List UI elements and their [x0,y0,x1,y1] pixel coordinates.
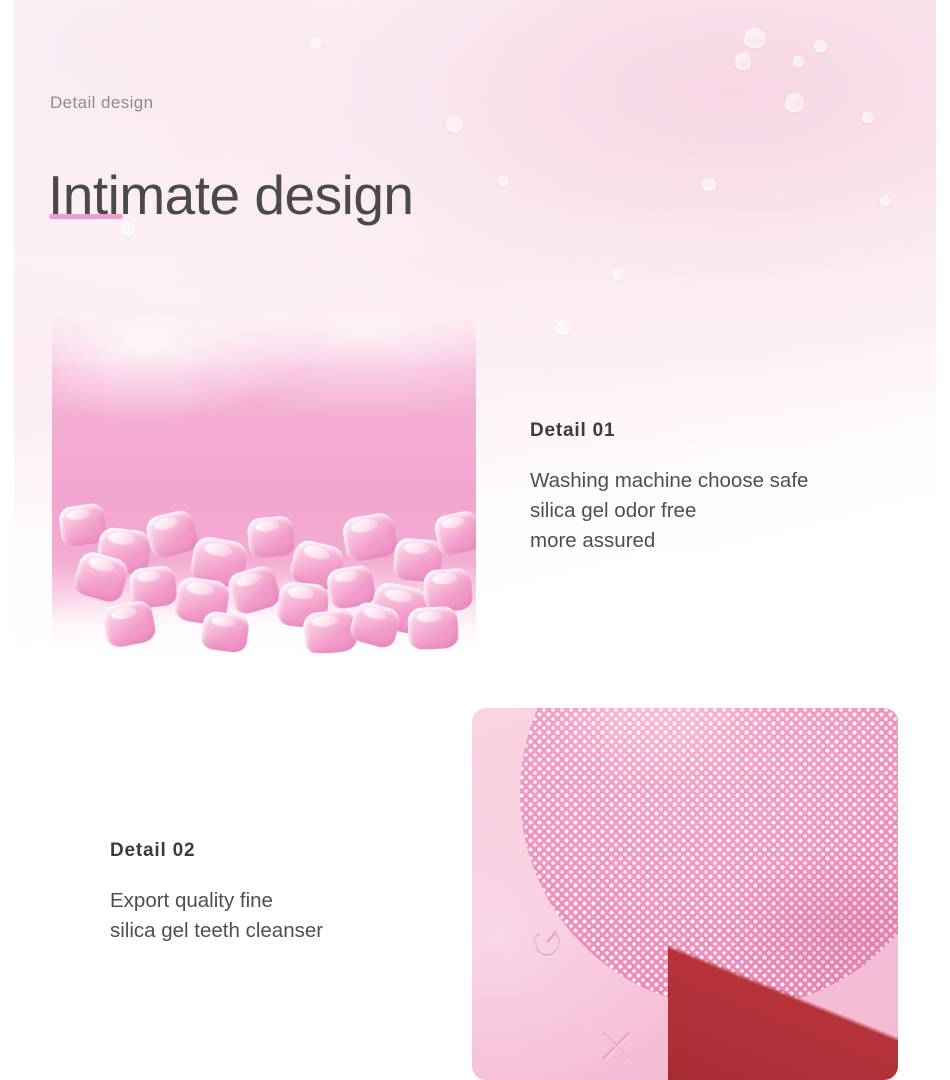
background-wedge [668,930,898,1080]
detail-01-title: Detail 01 [530,420,910,442]
detail-block-02: Detail 02 Export quality fine silica gel… [110,840,450,946]
accent-underline [49,214,123,219]
power-icon [526,922,568,964]
water-droplet-icon [880,196,890,206]
product-detail-page: Detail design Intimate design Detail 01 … [0,0,950,1080]
water-droplet-icon [310,38,322,49]
water-droplet-icon [785,93,804,112]
x-icon [596,1026,636,1066]
water-droplet-icon [498,176,509,186]
detail-02-body: Export quality fine silica gel teeth cle… [110,886,450,946]
water-droplet-icon [612,268,625,280]
product-photo-cleanser [472,708,898,1080]
water-droplet-icon [556,320,572,335]
water-droplet-icon [744,28,766,48]
detail-block-01: Detail 01 Washing machine choose safe si… [530,420,910,556]
water-droplet-icon [793,56,804,67]
water-droplet-icon [735,52,751,70]
water-droplet-icon [862,112,874,123]
product-photo-pellets [52,317,476,653]
detail-02-title: Detail 02 [110,840,450,862]
water-droplet-icon [446,116,463,132]
water-droplet-icon [814,40,827,52]
detail-01-body: Washing machine choose safe silica gel o… [530,466,910,556]
water-droplet-icon [702,178,716,191]
eyebrow-label: Detail design [50,93,153,113]
